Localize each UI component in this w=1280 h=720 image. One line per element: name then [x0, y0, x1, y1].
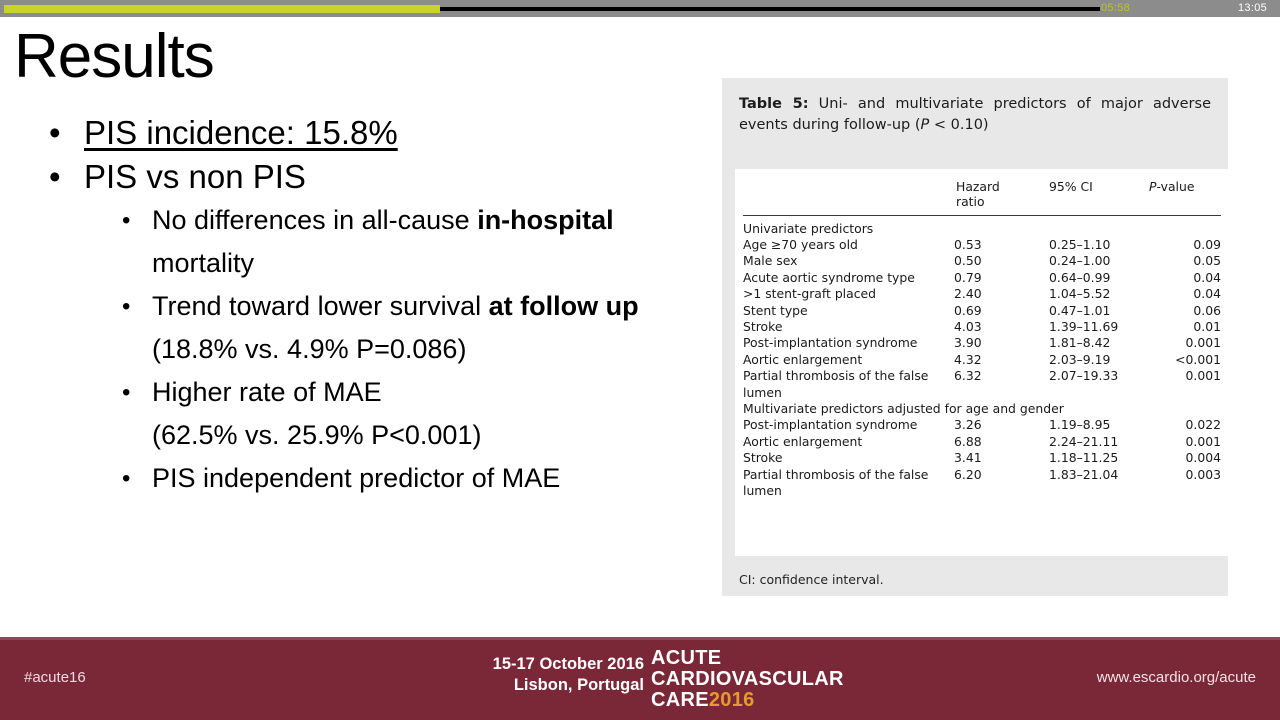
- column-header-label: [743, 179, 954, 211]
- table-row: Aortic enlargement4.322.03–9.19<0.001: [743, 351, 1221, 367]
- cell-predictor: Partial thrombosis of the false: [743, 466, 954, 482]
- cell-pvalue: <0.001: [1149, 351, 1221, 367]
- list-item: • Higher rate of MAE: [34, 371, 694, 414]
- bullet-text: PIS incidence: 15.8%: [84, 114, 398, 151]
- cell-hazard-ratio: 4.32: [954, 351, 1049, 367]
- cell-pvalue: 0.001: [1149, 433, 1221, 449]
- cell-hazard-ratio: 6.88: [954, 433, 1049, 449]
- table-row: Partial thrombosis of the false6.322.07–…: [743, 368, 1221, 384]
- table-header-row: Hazard ratio 95% CI P-value: [743, 179, 1221, 211]
- cell-pvalue: 0.04: [1149, 269, 1221, 285]
- figure-caption-label: Table 5:: [739, 96, 809, 112]
- cell-hazard-ratio: 6.20: [954, 466, 1049, 482]
- subbullet-continuation: (62.5% vs. 25.9% P<0.001): [34, 414, 694, 457]
- cell-ci: 0.25–1.10: [1049, 236, 1149, 252]
- list-item: • Trend toward lower survival at follow …: [34, 285, 694, 328]
- total-time-label: 13:05: [1238, 1, 1267, 15]
- list-item: • PIS independent predictor of MAE: [34, 457, 694, 500]
- subbullet-text-prefix: Higher rate of MAE: [152, 377, 382, 407]
- table-row: Partial thrombosis of the false6.201.83–…: [743, 466, 1221, 482]
- subbullet-text-prefix: PIS independent predictor of MAE: [152, 463, 560, 493]
- table-row-wrap: lumen: [743, 384, 1221, 400]
- cell-ci: 2.03–9.19: [1049, 351, 1149, 367]
- figure-caption-p-italic: P: [921, 117, 930, 133]
- hashtag-label: #acute16: [24, 668, 86, 688]
- hazard-ratio-line1: Hazard: [956, 179, 1000, 194]
- header-rule-row: [743, 211, 1221, 220]
- bullet-marker-icon: •: [49, 111, 61, 154]
- cell-pvalue: 0.001: [1149, 335, 1221, 351]
- event-date-line1: 15-17 October 2016: [493, 655, 644, 673]
- column-header-ci: 95% CI: [1049, 179, 1149, 211]
- cell-pvalue: 0.001: [1149, 368, 1221, 384]
- column-header-hazard-ratio: Hazard ratio: [954, 179, 1049, 211]
- conference-footer: #acute16 15-17 October 2016 Lisbon, Port…: [0, 637, 1280, 720]
- bullet-marker-icon: •: [122, 199, 130, 242]
- cell-pvalue: 0.09: [1149, 236, 1221, 252]
- table-row: Stroke4.031.39–11.690.01: [743, 318, 1221, 334]
- bullet-marker-icon: •: [122, 285, 130, 328]
- cell-predictor: Stent type: [743, 302, 954, 318]
- cell-hazard-ratio: 0.53: [954, 236, 1049, 252]
- table-figure: Table 5: Uni- and multivariate predictor…: [722, 78, 1228, 596]
- elapsed-time-label: 05:58: [1101, 1, 1130, 15]
- logo-year: 2016: [709, 689, 755, 711]
- table-row: Age ≥70 years old0.530.25–1.100.09: [743, 236, 1221, 252]
- footer-divider: [0, 637, 1280, 640]
- table-body: Univariate predictorsAge ≥70 years old0.…: [743, 220, 1221, 499]
- cell-hazard-ratio: 0.50: [954, 253, 1049, 269]
- cell-ci: 2.07–19.33: [1049, 368, 1149, 384]
- table-head: Hazard ratio 95% CI P-value: [743, 179, 1221, 220]
- pvalue-rest: -value: [1156, 179, 1194, 194]
- table-row: >1 stent-graft placed2.401.04–5.520.04: [743, 286, 1221, 302]
- cell-predictor: Stroke: [743, 450, 954, 466]
- cell-predictor: Acute aortic syndrome type: [743, 269, 954, 285]
- cell-pvalue: 0.022: [1149, 417, 1221, 433]
- cell-ci: 1.83–21.04: [1049, 466, 1149, 482]
- website-link[interactable]: www.escardio.org/acute: [1097, 668, 1256, 688]
- cell-ci: 2.24–21.11: [1049, 433, 1149, 449]
- cell-pvalue: 0.004: [1149, 450, 1221, 466]
- table-section-row: Univariate predictors: [743, 220, 1221, 236]
- page-title: Results: [14, 21, 214, 93]
- cell-predictor: >1 stent-graft placed: [743, 286, 954, 302]
- cell-predictor: Post-implantation syndrome: [743, 417, 954, 433]
- cell-pvalue: 0.05: [1149, 253, 1221, 269]
- table-section-title: Univariate predictors: [743, 220, 1221, 236]
- event-date-block: 15-17 October 2016 Lisbon, Portugal: [448, 654, 644, 696]
- cell-hazard-ratio: 3.41: [954, 450, 1049, 466]
- table-row: Male sex0.500.24–1.000.05: [743, 253, 1221, 269]
- subbullet-text-prefix: No differences in all-cause: [152, 205, 477, 235]
- cell-ci: 0.47–1.01: [1049, 302, 1149, 318]
- cell-ci: 1.18–11.25: [1049, 450, 1149, 466]
- figure-caption: Table 5: Uni- and multivariate predictor…: [739, 94, 1211, 136]
- list-item: • PIS incidence: 15.8%: [34, 111, 694, 154]
- cell-hazard-ratio: 0.79: [954, 269, 1049, 285]
- cell-hazard-ratio: 2.40: [954, 286, 1049, 302]
- cell-predictor: Aortic enlargement: [743, 433, 954, 449]
- cell-ci: 0.64–0.99: [1049, 269, 1149, 285]
- logo-line1: ACUTE: [651, 647, 721, 669]
- table-row: Aortic enlargement6.882.24–21.110.001: [743, 433, 1221, 449]
- cell-pvalue: 0.04: [1149, 286, 1221, 302]
- table-row-wrap: lumen: [743, 483, 1221, 499]
- cell-ci: 0.24–1.00: [1049, 253, 1149, 269]
- cell-predictor-wrap: lumen: [743, 483, 1221, 499]
- cell-hazard-ratio: 0.69: [954, 302, 1049, 318]
- bullet-list: • PIS incidence: 15.8% • PIS vs non PIS …: [34, 111, 694, 500]
- table-row: Stroke3.411.18–11.250.004: [743, 450, 1221, 466]
- cell-predictor: Age ≥70 years old: [743, 236, 954, 252]
- cell-predictor: Stroke: [743, 318, 954, 334]
- list-item: • PIS vs non PIS: [34, 155, 694, 198]
- table-row: Post-implantation syndrome3.261.19–8.950…: [743, 417, 1221, 433]
- table-row: Acute aortic syndrome type0.790.64–0.990…: [743, 269, 1221, 285]
- results-table: Hazard ratio 95% CI P-value Univariate p…: [743, 179, 1221, 499]
- conference-logo: ACUTE CARDIOVASCULAR CARE2016: [651, 648, 844, 711]
- bullet-marker-icon: •: [122, 457, 130, 500]
- bullet-marker-icon: •: [122, 371, 130, 414]
- figure-footnote: CI: confidence interval.: [739, 572, 884, 588]
- slide-canvas: Results • PIS incidence: 15.8% • PIS vs …: [0, 17, 1280, 637]
- cell-ci: 1.19–8.95: [1049, 417, 1149, 433]
- table-row: Post-implantation syndrome3.901.81–8.420…: [743, 335, 1221, 351]
- bullet-text: PIS vs non PIS: [84, 158, 306, 195]
- subbullet-text-bold: at follow up: [489, 291, 639, 321]
- subbullet-text-prefix: Trend toward lower survival: [152, 291, 489, 321]
- cell-ci: 1.39–11.69: [1049, 318, 1149, 334]
- cell-ci: 1.04–5.52: [1049, 286, 1149, 302]
- cell-hazard-ratio: 4.03: [954, 318, 1049, 334]
- subbullet-text-suffix: mortality: [152, 248, 254, 278]
- cell-hazard-ratio: 3.90: [954, 335, 1049, 351]
- list-item: • No differences in all-cause in-hospita…: [34, 199, 694, 285]
- table-row: Stent type0.690.47–1.010.06: [743, 302, 1221, 318]
- table-section-title: Multivariate predictors adjusted for age…: [743, 400, 1221, 416]
- logo-line3: CARE: [651, 689, 709, 711]
- hazard-ratio-line2: ratio: [956, 194, 985, 209]
- column-header-pvalue: P-value: [1149, 179, 1221, 211]
- subbullet-text-bold: in-hospital: [477, 205, 614, 235]
- event-date-line2: Lisbon, Portugal: [514, 676, 644, 694]
- cell-predictor: Male sex: [743, 253, 954, 269]
- horizontal-rule: [743, 215, 1221, 216]
- header-rule-cell: [743, 211, 1221, 220]
- cell-pvalue: 0.003: [1149, 466, 1221, 482]
- cell-ci: 1.81–8.42: [1049, 335, 1149, 351]
- bullet-marker-icon: •: [49, 155, 61, 198]
- logo-line2: CARDIOVASCULAR: [651, 668, 844, 690]
- video-player-bar[interactable]: 05:58 13:05: [0, 0, 1280, 17]
- cell-predictor-wrap: lumen: [743, 384, 1221, 400]
- cell-pvalue: 0.01: [1149, 318, 1221, 334]
- cell-hazard-ratio: 6.32: [954, 368, 1049, 384]
- subbullet-continuation: (18.8% vs. 4.9% P=0.086): [34, 328, 694, 371]
- progress-track-played[interactable]: [4, 5, 440, 13]
- table-container: Hazard ratio 95% CI P-value Univariate p…: [735, 169, 1228, 556]
- progress-track-remaining[interactable]: [440, 7, 1100, 11]
- cell-pvalue: 0.06: [1149, 302, 1221, 318]
- cell-predictor: Partial thrombosis of the false: [743, 368, 954, 384]
- table-section-row: Multivariate predictors adjusted for age…: [743, 400, 1221, 416]
- cell-predictor: Post-implantation syndrome: [743, 335, 954, 351]
- figure-caption-tail: < 0.10): [929, 117, 988, 133]
- cell-predictor: Aortic enlargement: [743, 351, 954, 367]
- cell-hazard-ratio: 3.26: [954, 417, 1049, 433]
